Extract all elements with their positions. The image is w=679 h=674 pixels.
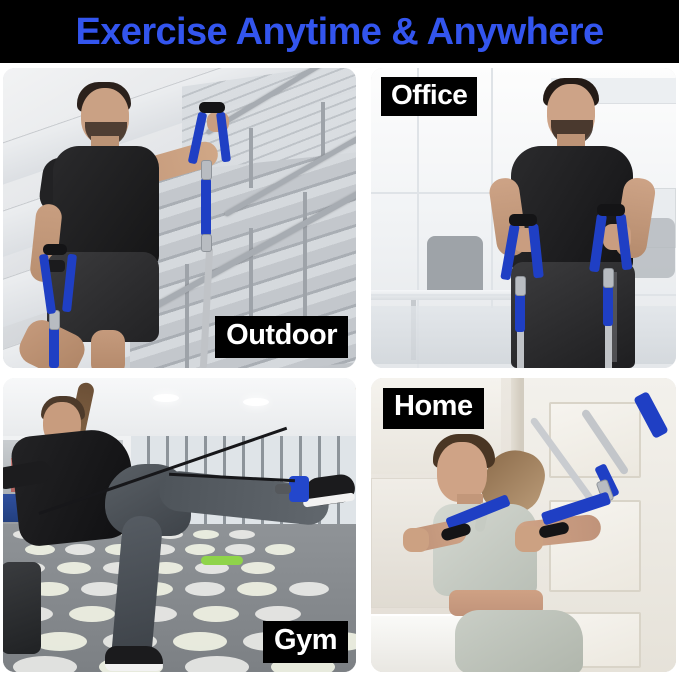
product-image-infographic: Exercise Anytime & Anywhere [0,0,679,674]
carabiner [603,268,614,288]
carabiner [201,234,212,252]
shoe-sole [105,664,163,671]
carabiner [515,276,526,296]
leggings [455,610,583,672]
head [437,442,487,502]
resistance-tube [605,322,612,368]
resistance-tube [517,328,524,368]
panel-gym: Gym [3,378,356,672]
page-title: Exercise Anytime & Anywhere [76,13,604,51]
panel-grid: Outdoor [0,66,679,674]
torso-shirt [53,146,159,268]
panel-home: Home [371,378,676,672]
office-chair [427,236,483,294]
header-banner: Exercise Anytime & Anywhere [0,0,679,63]
cable-clip [275,484,291,494]
railing-post [321,102,325,160]
resistance-band-strap [49,326,59,368]
person-office [491,72,671,368]
resistance-band-strap [603,284,613,326]
panel-label-home: Home [383,388,484,429]
band-handle [597,204,625,216]
band-handle [509,214,537,226]
resistance-band-strap [201,178,211,236]
band-handle [199,102,225,113]
railing-post [249,128,253,188]
right-leg [91,330,125,368]
panel-label-gym: Gym [263,621,348,663]
panel-label-outdoor: Outdoor [215,316,348,358]
band-handle [43,244,67,255]
person-outdoor [17,74,207,368]
panel-outdoor: Outdoor [3,68,356,368]
panel-office: Office [371,68,676,368]
standing-leg [111,515,164,666]
panel-label-office: Office [381,77,477,116]
resistance-band-strap [515,292,525,332]
carabiner [201,160,212,180]
left-fist [403,528,429,552]
railing-post [303,192,307,317]
person-home [411,414,641,672]
